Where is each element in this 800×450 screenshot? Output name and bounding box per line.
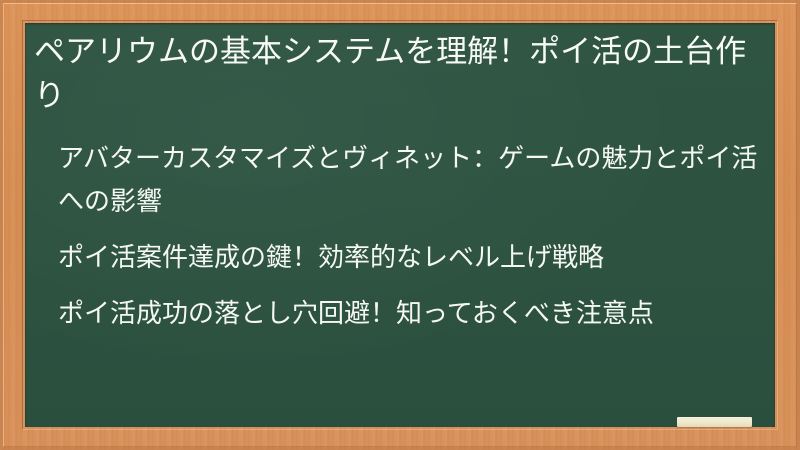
table-of-contents: アバターカスタマイズとヴィネット：ゲームの魅力とポイ活への影響 ポイ活案件達成の… <box>58 137 758 335</box>
chalkboard-surface: ペアリウムの基本システムを理解！ポイ活の土台作り アバターカスタマイズとヴィネッ… <box>25 23 775 427</box>
list-item[interactable]: ポイ活成功の落とし穴回避！知っておくべき注意点 <box>58 292 758 335</box>
list-item[interactable]: アバターカスタマイズとヴィネット：ゲームの魅力とポイ活への影響 <box>58 137 758 223</box>
page-title: ペアリウムの基本システムを理解！ポイ活の土台作り <box>34 30 758 118</box>
chalkboard-frame: ペアリウムの基本システムを理解！ポイ活の土台作り アバターカスタマイズとヴィネッ… <box>0 0 800 450</box>
list-item[interactable]: ポイ活案件達成の鍵！効率的なレベル上げ戦略 <box>58 236 758 279</box>
chalk-stick <box>677 417 752 427</box>
